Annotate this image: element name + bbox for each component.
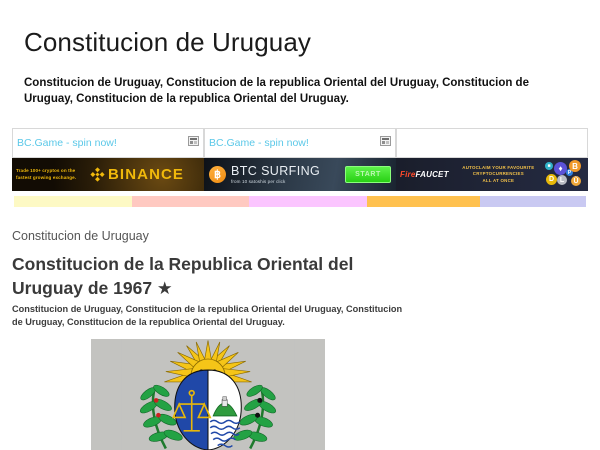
page-root: Constitucion de Uruguay Constitucion de … — [0, 0, 600, 450]
ad-banner-binance[interactable]: Trade 100+ cryptos on the fastest growin… — [12, 158, 204, 191]
article-description: Constitucion de Uruguay, Constitucion de… — [12, 303, 404, 328]
site-description: Constitucion de Uruguay, Constitucion de… — [0, 57, 600, 107]
ad-link-2[interactable]: BC.Game - spin now! — [209, 137, 309, 150]
ad-header-1: BC.Game - spin now! — [12, 128, 204, 158]
coin-teal-icon: ■ — [545, 162, 553, 170]
firefaucet-copy: AUTOCLAIM YOUR FAVOURITE CRYPTOCURRENCIE… — [453, 165, 544, 184]
ad-unit-2: BC.Game - spin now! ฿ BTC SURFING from 1… — [204, 128, 396, 191]
color-stripe-bar — [14, 196, 586, 207]
btc-surfing-text: BTC SURFING from 10 satoshis per click — [231, 165, 345, 185]
ad-unit-3: FireFAUCET AUTOCLAIM YOUR FAVOURITE CRYP… — [396, 128, 588, 191]
broken-image-icon — [188, 133, 199, 143]
broken-image-icon — [380, 133, 391, 143]
coat-of-arms-of-uruguay-image — [91, 339, 325, 450]
bitcoin-coin-icon: ฿ — [209, 166, 226, 183]
breadcrumb[interactable]: Constitucion de Uruguay — [12, 229, 149, 243]
firefaucet-coin-cluster: D L P ♦ ■ B Ũ — [544, 159, 584, 190]
stripe-periwinkle — [480, 196, 586, 207]
firefaucet-logo-faucet: FAUCET — [415, 170, 448, 179]
ad-banner-btc-surfing[interactable]: ฿ BTC SURFING from 10 satoshis per click… — [204, 158, 396, 191]
stripe-yellow — [14, 196, 132, 207]
coin-litecoin-icon: L — [557, 175, 567, 185]
ad-banner-firefaucet[interactable]: FireFAUCET AUTOCLAIM YOUR FAVOURITE CRYP… — [396, 158, 588, 191]
page-title: Constitucion de Uruguay — [0, 0, 600, 57]
coat-of-arms-figure[interactable] — [91, 339, 325, 450]
article-title: Constitucion de la Republica Oriental de… — [12, 252, 362, 300]
ad-link-1[interactable]: BC.Game - spin now! — [17, 137, 117, 150]
binance-logo: BINANCE — [90, 167, 184, 182]
ad-unit-1: BC.Game - spin now! Trade 100+ cryptos o… — [12, 128, 204, 191]
btc-surfing-subtitle: from 10 satoshis per click — [231, 178, 345, 185]
firefaucet-logo: FireFAUCET — [400, 170, 449, 179]
coin-dash-icon: D — [546, 174, 557, 185]
stripe-magenta — [249, 196, 367, 207]
btc-surfing-start-button[interactable]: START — [345, 166, 391, 183]
firefaucet-logo-fire: Fire — [400, 170, 415, 179]
ad-header-2: BC.Game - spin now! — [204, 128, 396, 158]
binance-mark-icon — [90, 167, 105, 182]
ads-strip: BC.Game - spin now! Trade 100+ cryptos o… — [12, 128, 588, 191]
stripe-orange — [367, 196, 480, 207]
coin-bitcoin-small-icon: Ũ — [571, 176, 581, 186]
binance-wordmark: BINANCE — [108, 167, 184, 182]
btc-surfing-title: BTC SURFING — [231, 165, 345, 178]
coin-bitcoin-icon: B — [569, 160, 581, 172]
ad-header-3 — [396, 128, 588, 158]
coin-ethereum-icon: ♦ — [554, 162, 567, 175]
stripe-pink — [132, 196, 249, 207]
binance-copy: Trade 100+ cryptos on the fastest growin… — [16, 168, 88, 180]
